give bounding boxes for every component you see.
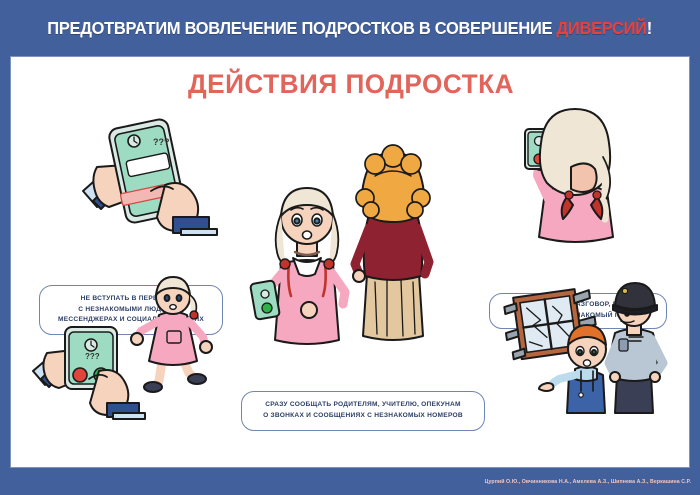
poster-root: ПРЕДОТВРАТИМ ВОВЛЕЧЕНИЕ ПОДРОСТКОВ В СОВ… (0, 0, 700, 495)
callout-line: О ЗВОНКАХ И СООБЩЕНИЯХ С НЕЗНАКОМЫХ НОМЕ… (263, 411, 463, 422)
header-title: ПРЕДОТВРАТИМ ВОВЛЕЧЕНИЕ ПОДРОСТКОВ В СОВ… (48, 18, 653, 39)
illustration-walking-girl (129, 275, 221, 393)
illustration-girl-on-phone (511, 105, 641, 235)
callout-line: СРАЗУ СООБЩАТЬ РОДИТЕЛЯМ, УЧИТЕЛЮ, ОПЕКУ… (263, 400, 463, 411)
page-title: ДЕЙСТВИЯ ПОДРОСТКА (21, 69, 681, 100)
illustration-boy-window-police (503, 279, 668, 414)
poster-footer: Цурпий О.Ю., Овчинникова Н.А., Амелева А… (0, 468, 700, 495)
poster-header: ПРЕДОТВРАТИМ ВОВЛЕЧЕНИЕ ПОДРОСТКОВ В СОВ… (0, 0, 700, 56)
header-title-accent: ДИВЕРСИЙ (557, 18, 647, 38)
illustration-girl-and-woman (259, 142, 449, 342)
poster-card: ДЕЙСТВИЯ ПОДРОСТКА (10, 56, 690, 468)
header-title-tail: ! (647, 18, 652, 38)
footer-credits: Цурпий О.Ю., Овчинникова Н.А., Амелева А… (485, 479, 700, 485)
phone-unknown-label: ??? (153, 137, 170, 147)
callout-tell-parents-immediately: СРАЗУ СООБЩАТЬ РОДИТЕЛЯМ, УЧИТЕЛЮ, ОПЕКУ… (241, 391, 485, 431)
header-title-main: ПРЕДОТВРАТИМ ВОВЛЕЧЕНИЕ ПОДРОСТКОВ В СОВ… (48, 18, 557, 38)
phone-unknown-label: ??? (85, 352, 100, 361)
illustration-hands-phone-message: ??? (81, 105, 231, 235)
